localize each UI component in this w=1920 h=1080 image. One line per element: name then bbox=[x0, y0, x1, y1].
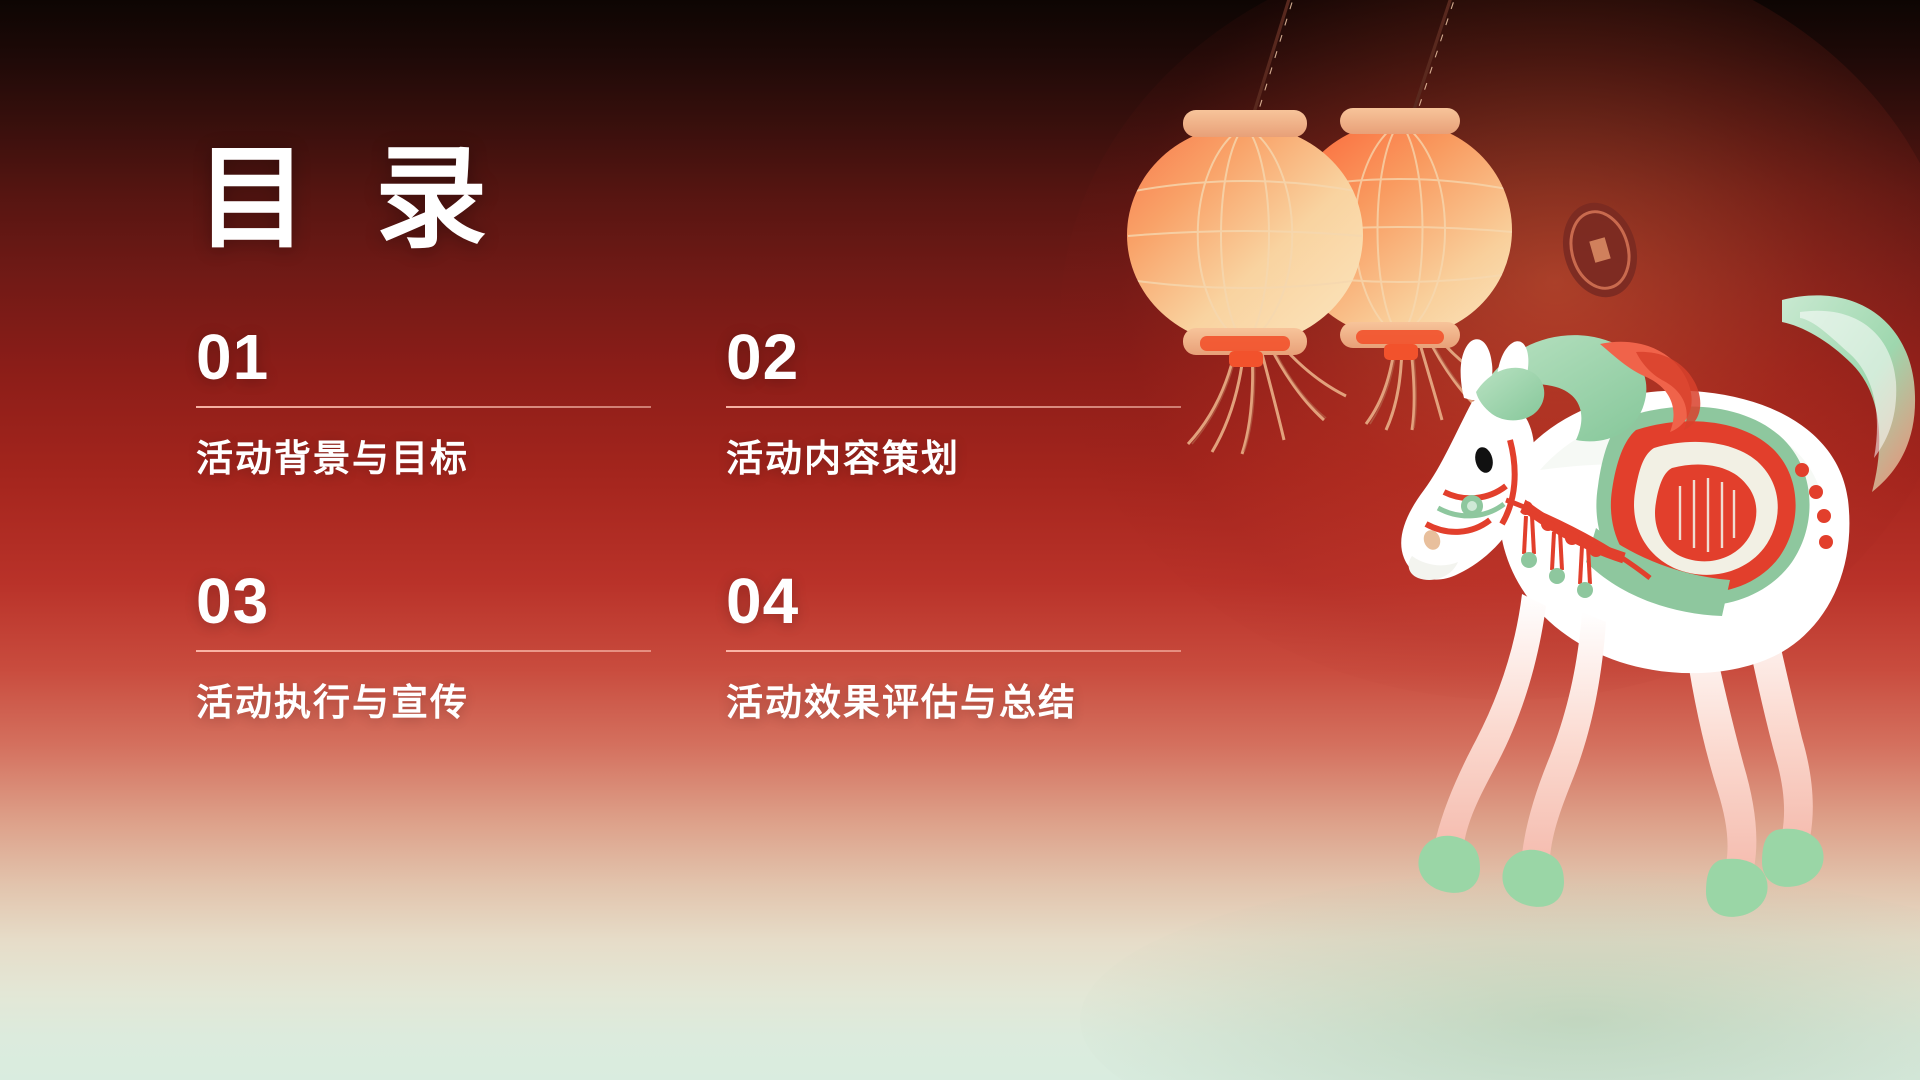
horse-saddle bbox=[1586, 406, 1810, 616]
chinese-coin-ornament bbox=[1552, 194, 1648, 306]
horse-hoof bbox=[1706, 859, 1768, 917]
horse-hoof bbox=[1762, 829, 1824, 887]
toc-label: 活动执行与宣传 bbox=[196, 681, 656, 725]
toc-label: 活动效果评估与总结 bbox=[726, 681, 1186, 725]
toc-divider bbox=[196, 650, 651, 652]
toc-item-02[interactable]: 02 活动内容策划 bbox=[726, 325, 1186, 481]
toc-number: 03 bbox=[196, 569, 656, 633]
lantern-string bbox=[1248, 0, 1460, 132]
chinese-lantern bbox=[1288, 108, 1512, 430]
horse-front-leg bbox=[1436, 594, 1546, 844]
toc-item-03[interactable]: 03 活动执行与宣传 bbox=[196, 569, 656, 725]
toc-divider bbox=[726, 406, 1181, 408]
horse-hind-leg bbox=[1682, 612, 1756, 868]
horse-hoof bbox=[1502, 850, 1564, 907]
horse-mane bbox=[1476, 335, 1646, 441]
bridle-boss bbox=[1461, 495, 1483, 517]
toc-label: 活动背景与目标 bbox=[196, 437, 656, 481]
horse-bridle bbox=[1426, 440, 1515, 532]
floor-glow bbox=[1080, 870, 1920, 1080]
toc-number: 04 bbox=[726, 569, 1186, 633]
toc-number: 02 bbox=[726, 325, 1186, 389]
horse-hind-leg bbox=[1740, 590, 1813, 838]
toc-label: 活动内容策划 bbox=[726, 437, 1186, 481]
presentation-slide: 目 录 01 活动背景与目标 02 活动内容策划 03 活动执行与宣传 04 活… bbox=[0, 0, 1920, 1080]
horse-head bbox=[1401, 397, 1534, 579]
horse-front-leg bbox=[1522, 612, 1606, 858]
horse-eye bbox=[1473, 445, 1496, 474]
lantern-tassel bbox=[1366, 330, 1496, 430]
toc-item-01[interactable]: 01 活动背景与目标 bbox=[196, 325, 656, 481]
collar-tassel bbox=[1524, 516, 1590, 584]
horse-tail bbox=[1782, 295, 1915, 492]
table-of-contents-list: 01 活动背景与目标 02 活动内容策划 03 活动执行与宣传 04 活动效果评… bbox=[196, 325, 1296, 726]
horse-breast-collar bbox=[1510, 494, 1624, 598]
horse-hoof bbox=[1418, 836, 1480, 893]
toc-divider bbox=[726, 650, 1181, 652]
horse-rein bbox=[1506, 500, 1650, 578]
galloping-horse bbox=[1401, 295, 1915, 917]
horse-rump-decoration bbox=[1795, 463, 1833, 549]
horse-body bbox=[1499, 391, 1849, 674]
page-title: 目 录 bbox=[196, 140, 1296, 259]
toc-number: 01 bbox=[196, 325, 656, 389]
horse-nostril bbox=[1421, 528, 1443, 552]
slide-content: 目 录 01 活动背景与目标 02 活动内容策划 03 活动执行与宣传 04 活… bbox=[196, 140, 1296, 726]
toc-item-04[interactable]: 04 活动效果评估与总结 bbox=[726, 569, 1186, 725]
toc-divider bbox=[196, 406, 651, 408]
lantern-string-highlight bbox=[1252, 0, 1464, 132]
